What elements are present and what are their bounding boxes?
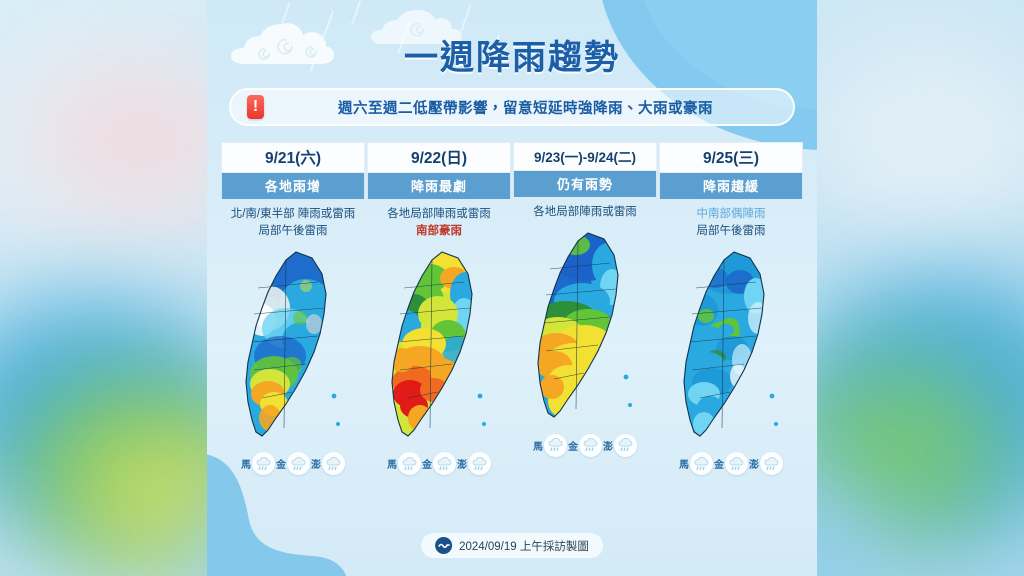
page-title: 一週降雨趨勢	[207, 30, 817, 79]
rain-cloud-icon	[690, 452, 713, 475]
description-line: 各地局部陣雨或雷雨	[515, 204, 655, 221]
rain-cloud-icon	[760, 452, 783, 475]
column-headline: 仍有雨勢	[513, 171, 657, 197]
island-label: 馬	[679, 456, 689, 471]
forecast-columns: 9/21(六) 各地雨增 北/南/東半部 陣雨或雷雨 局部午後雷雨	[221, 142, 803, 475]
island-item[interactable]: 馬	[241, 452, 275, 475]
island-item[interactable]: 馬	[679, 452, 713, 475]
taiwan-rainfall-map	[367, 243, 511, 448]
exclamation-icon: !	[247, 95, 264, 119]
rain-cloud-icon	[579, 434, 602, 457]
rain-cloud-icon	[725, 452, 748, 475]
island-item[interactable]: 金	[714, 452, 748, 475]
island-label: 澎	[457, 456, 467, 471]
description-line: 局部午後雷雨	[223, 223, 363, 240]
forecast-column[interactable]: 9/25(三) 降雨趨緩 中南部偶陣雨 局部午後雷雨	[659, 142, 803, 475]
description-line: 北/南/東半部 陣雨或雷雨	[223, 206, 363, 223]
island-label: 金	[276, 456, 286, 471]
column-description: 中南部偶陣雨 局部午後雷雨	[659, 199, 803, 239]
rain-cloud-icon	[322, 452, 345, 475]
island-label: 馬	[241, 456, 251, 471]
forecast-column[interactable]: 9/23(一)-9/24(二) 仍有雨勢 各地局部陣雨或雷雨	[513, 142, 657, 475]
island-item[interactable]: 澎	[457, 452, 491, 475]
island-item[interactable]: 金	[568, 434, 602, 457]
rain-streak-decoration	[460, 5, 471, 32]
island-label: 馬	[387, 456, 397, 471]
island-item[interactable]: 金	[422, 452, 456, 475]
island-item[interactable]: 金	[276, 452, 310, 475]
island-label: 金	[568, 438, 578, 453]
infographic-card: 一週降雨趨勢 ! 週六至週二低壓帶影響，留意短延時強降雨、大雨或豪雨 9/21(…	[207, 0, 817, 576]
rain-cloud-icon	[544, 434, 567, 457]
column-date: 9/21(六)	[221, 142, 365, 173]
island-item[interactable]: 馬	[387, 452, 421, 475]
warning-banner: ! 週六至週二低壓帶影響，留意短延時強降雨、大雨或豪雨	[229, 88, 795, 126]
column-headline: 降雨最劇	[367, 173, 511, 199]
island-label: 馬	[533, 438, 543, 453]
column-description: 各地局部陣雨或雷雨	[513, 197, 657, 221]
footer-credit: 2024/09/19 上午採訪製圖	[421, 533, 603, 558]
rain-streak-decoration	[281, 2, 290, 23]
rain-cloud-icon	[468, 452, 491, 475]
island-label: 金	[714, 456, 724, 471]
column-date: 9/25(三)	[659, 142, 803, 173]
island-forecast-row: 馬 金 澎	[221, 452, 365, 475]
tvbs-logo-icon	[435, 537, 452, 554]
island-forecast-row: 馬 金 澎	[659, 452, 803, 475]
column-headline: 降雨趨緩	[659, 173, 803, 199]
island-label: 澎	[749, 456, 759, 471]
rain-streak-decoration	[351, 0, 362, 25]
description-line-emphasis: 南部豪雨	[369, 223, 509, 240]
forecast-column[interactable]: 9/22(日) 降雨最劇 各地局部陣雨或雷雨 南部豪雨	[367, 142, 511, 475]
rain-cloud-icon	[287, 452, 310, 475]
rain-cloud-icon	[252, 452, 275, 475]
column-description: 北/南/東半部 陣雨或雷雨 局部午後雷雨	[221, 199, 365, 239]
island-forecast-row: 馬 金 澎	[367, 452, 511, 475]
island-forecast-row: 馬 金 澎	[513, 434, 657, 457]
island-label: 澎	[311, 456, 321, 471]
warning-text: 週六至週二低壓帶影響，留意短延時強降雨、大雨或豪雨	[274, 97, 777, 118]
rain-cloud-icon	[398, 452, 421, 475]
description-line: 各地局部陣雨或雷雨	[369, 206, 509, 223]
footer-text: 2024/09/19 上午採訪製圖	[459, 538, 589, 554]
island-item[interactable]: 澎	[749, 452, 783, 475]
island-item[interactable]: 澎	[311, 452, 345, 475]
column-date: 9/23(一)-9/24(二)	[513, 142, 657, 171]
taiwan-rainfall-map	[659, 243, 803, 448]
taiwan-rainfall-map	[513, 225, 657, 430]
column-date: 9/22(日)	[367, 142, 511, 173]
forecast-column[interactable]: 9/21(六) 各地雨增 北/南/東半部 陣雨或雷雨 局部午後雷雨	[221, 142, 365, 475]
description-line: 局部午後雷雨	[661, 223, 801, 240]
rain-cloud-icon	[614, 434, 637, 457]
column-description: 各地局部陣雨或雷雨 南部豪雨	[367, 199, 511, 239]
island-label: 澎	[603, 438, 613, 453]
island-item[interactable]: 馬	[533, 434, 567, 457]
column-headline: 各地雨增	[221, 173, 365, 199]
description-line: 中南部偶陣雨	[661, 206, 801, 223]
island-label: 金	[422, 456, 432, 471]
taiwan-rainfall-map	[221, 243, 365, 448]
rain-cloud-icon	[433, 452, 456, 475]
island-item[interactable]: 澎	[603, 434, 637, 457]
